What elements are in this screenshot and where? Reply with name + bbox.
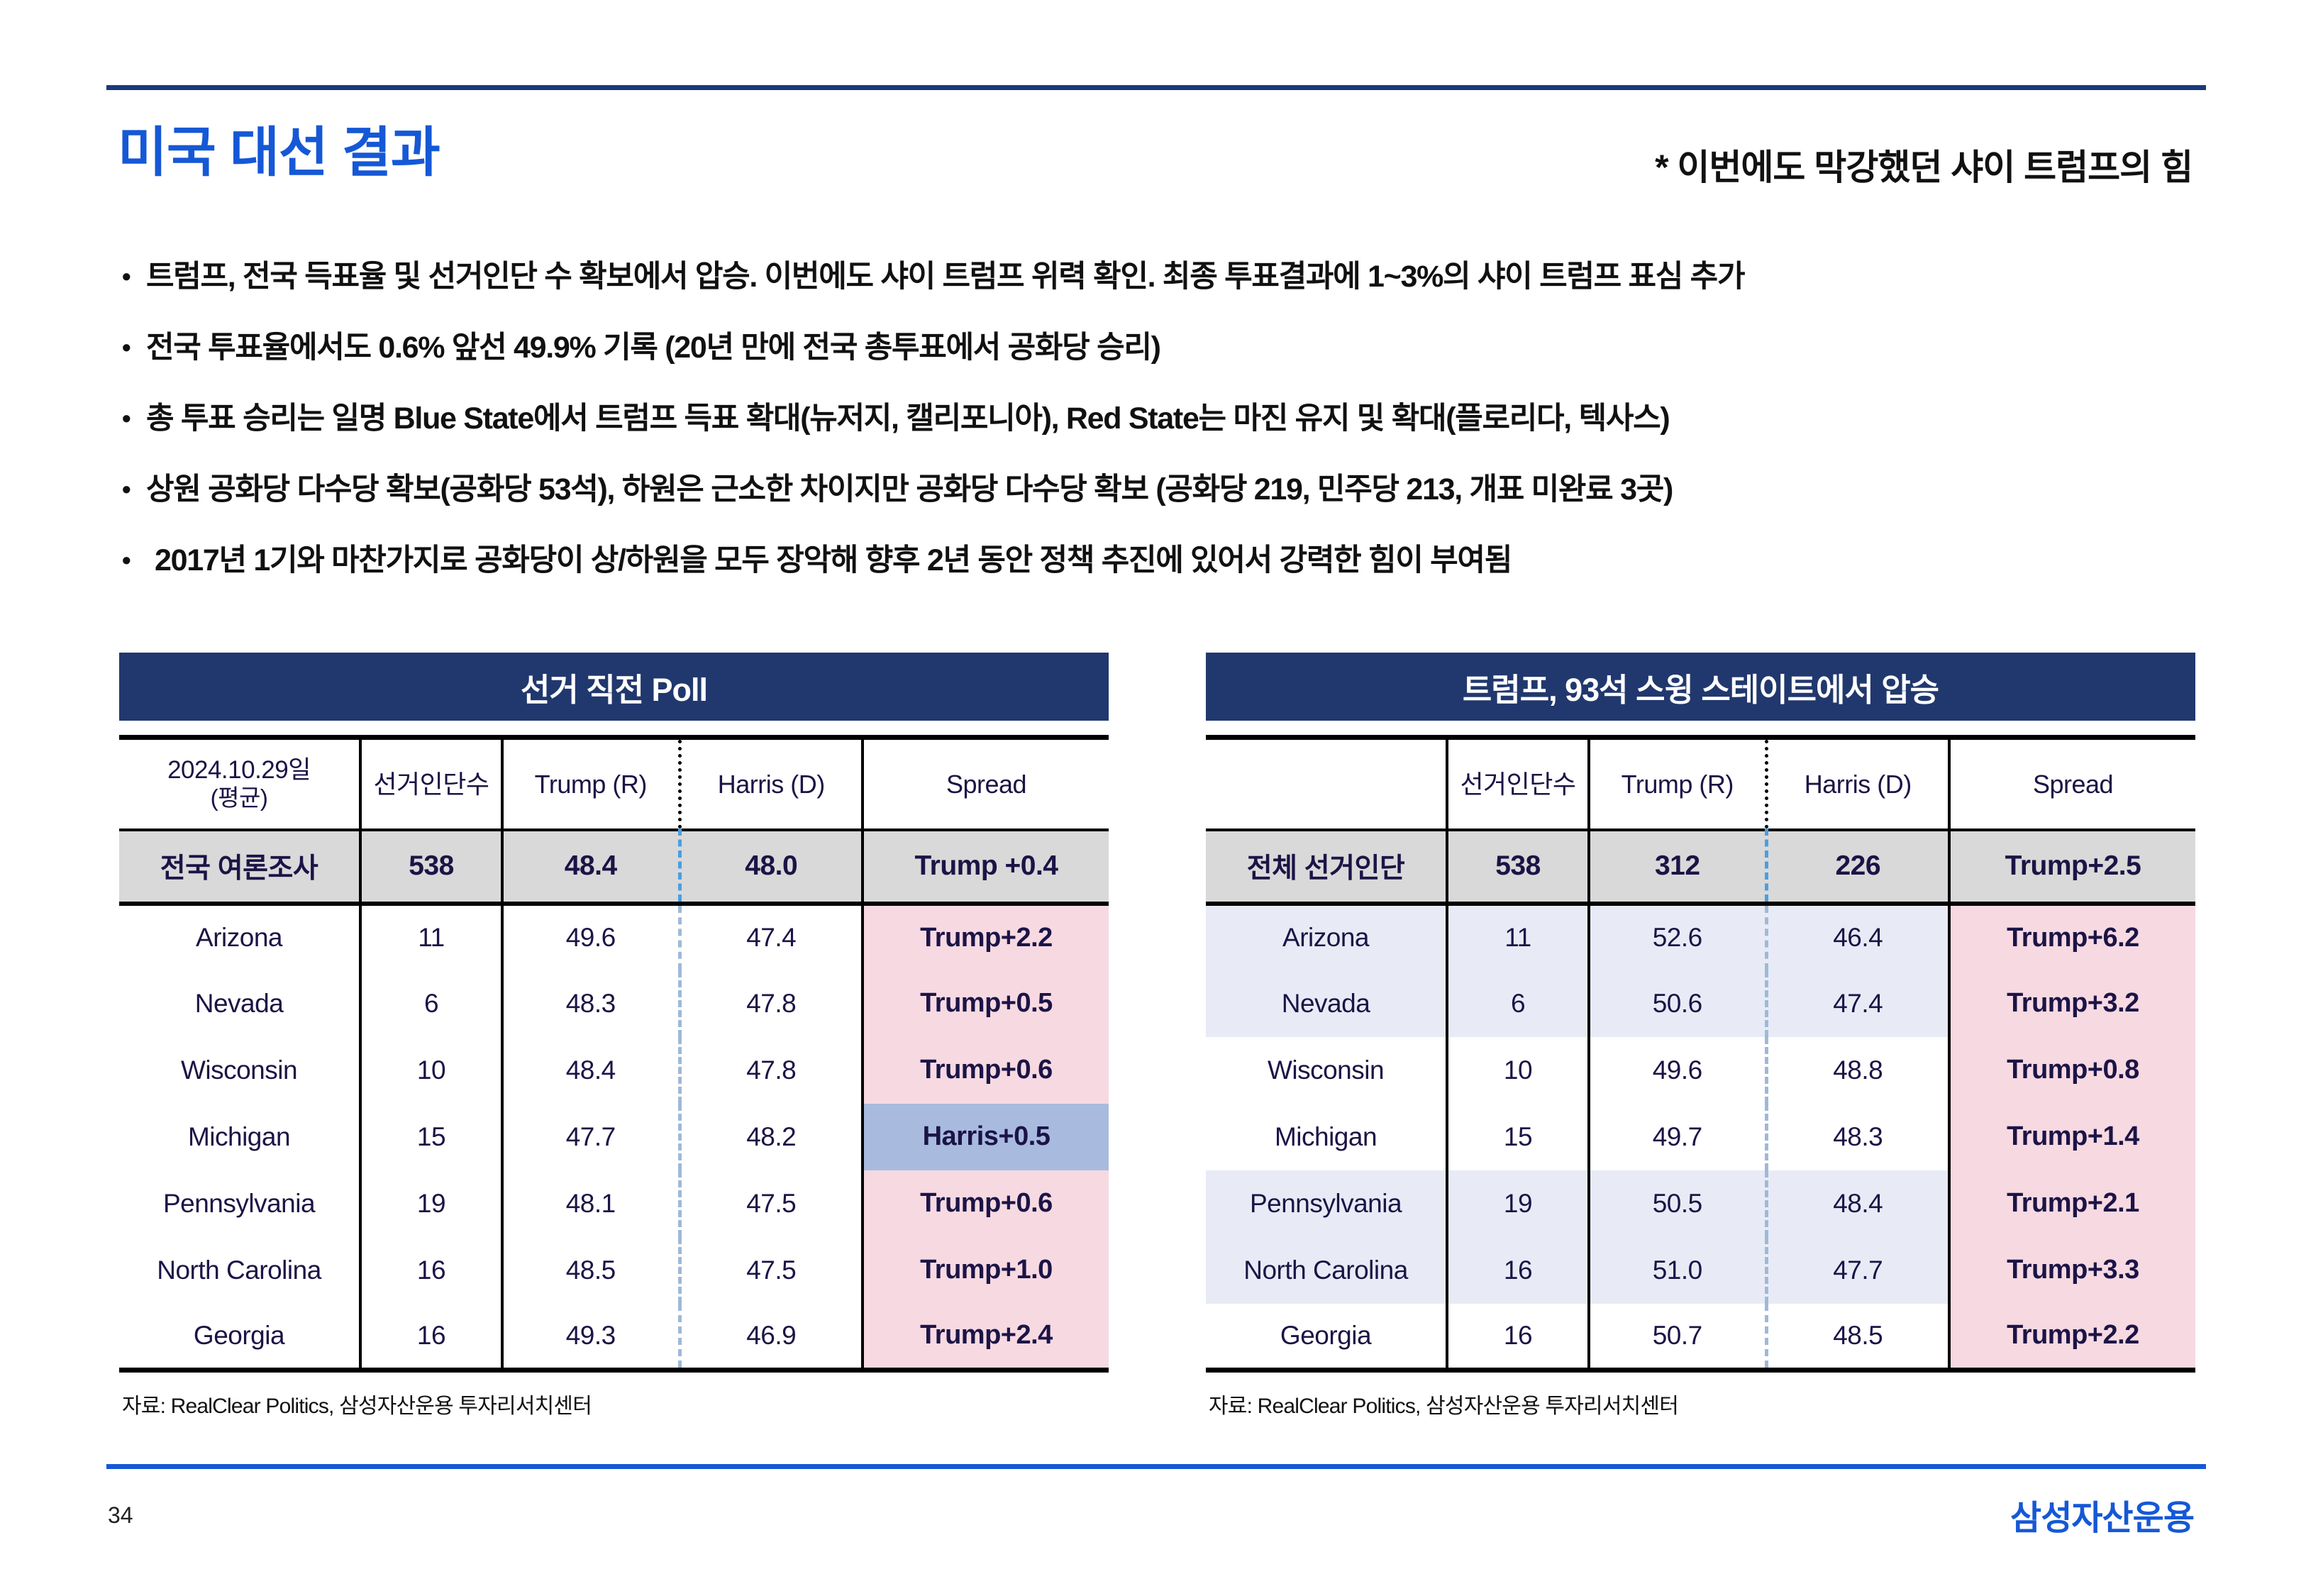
- bullet-item: • 상원 공화당 다수당 확보(공화당 53석), 하원은 근소한 차이지만 공…: [122, 454, 2214, 525]
- total-label: 전체 선거인단: [1206, 830, 1447, 904]
- bullet-item: • 2017년 1기와 마찬가지로 공화당이 상/하원을 모두 장악해 향후 2…: [122, 525, 2214, 596]
- row-electoral: 16: [360, 1304, 502, 1370]
- row-state: Arizona: [119, 904, 360, 970]
- header-cell-date: 2024.10.29일 (평균): [119, 738, 360, 830]
- row-trump: 52.6: [1589, 904, 1766, 970]
- total-label: 전국 여론조사: [119, 830, 360, 904]
- row-trump: 51.0: [1589, 1237, 1766, 1304]
- total-spread: Trump +0.4: [863, 830, 1109, 904]
- bottom-divider-rule: [106, 1464, 2206, 1469]
- row-spread: Trump+2.2: [863, 904, 1109, 970]
- row-spread: Trump+0.8: [1949, 1037, 2195, 1104]
- row-electoral: 10: [360, 1037, 502, 1104]
- bullet-item: • 총 투표 승리는 일명 Blue State에서 트럼프 득표 확대(뉴저지…: [122, 383, 2214, 454]
- header-cell-electoral: 선거인단수: [1447, 738, 1589, 830]
- row-state: Wisconsin: [119, 1037, 360, 1104]
- header-cell-spread: Spread: [863, 738, 1109, 830]
- right-table-panel: 트럼프, 93석 스윙 스테이트에서 압승 선거인단수 Trump (R) Ha…: [1206, 653, 2195, 1419]
- right-result-table: 선거인단수 Trump (R) Harris (D) Spread 전체 선거인…: [1206, 735, 2195, 1373]
- header-date-line1: 2024.10.29일: [119, 756, 359, 785]
- brand-logo: 삼성자산운용: [2010, 1490, 2194, 1539]
- bullet-item: • 트럼프, 전국 득표율 및 선거인단 수 확보에서 압승. 이번에도 샤이 …: [122, 241, 2214, 312]
- bullet-marker-icon: •: [122, 383, 146, 454]
- bullet-marker-icon: •: [122, 525, 155, 596]
- row-electoral: 6: [360, 970, 502, 1037]
- total-electoral: 538: [1447, 830, 1589, 904]
- bullet-item: • 전국 투표율에서도 0.6% 앞선 49.9% 기록 (20년 만에 전국 …: [122, 312, 2214, 383]
- row-spread: Trump+2.2: [1949, 1304, 2195, 1370]
- table-row: Pennsylvania 19 50.5 48.4 Trump+2.1: [1206, 1170, 2195, 1237]
- row-trump: 47.7: [502, 1104, 680, 1170]
- right-table-title: 트럼프, 93석 스윙 스테이트에서 압승: [1206, 653, 2195, 721]
- top-divider-rule: [106, 85, 2206, 90]
- row-spread: Trump+1.0: [863, 1237, 1109, 1304]
- row-state: Michigan: [119, 1104, 360, 1170]
- row-trump: 48.5: [502, 1237, 680, 1304]
- row-spread: Trump+1.4: [1949, 1104, 2195, 1170]
- row-spread: Trump+3.2: [1949, 970, 2195, 1037]
- slide-root: 미국 대선 결과 * 이번에도 막강했던 샤이 트럼프의 힘 • 트럼프, 전국…: [0, 0, 2306, 1596]
- row-trump: 48.3: [502, 970, 680, 1037]
- table-row: Arizona 11 49.6 47.4 Trump+2.2: [119, 904, 1109, 970]
- bullet-list: • 트럼프, 전국 득표율 및 선거인단 수 확보에서 압승. 이번에도 샤이 …: [122, 241, 2214, 596]
- header-cell-harris: Harris (D): [680, 738, 863, 830]
- table-row: Arizona 11 52.6 46.4 Trump+6.2: [1206, 904, 2195, 970]
- row-spread: Trump+2.4: [863, 1304, 1109, 1370]
- row-harris: 47.5: [680, 1237, 863, 1304]
- row-state: Nevada: [1206, 970, 1447, 1037]
- header-cell-spread: Spread: [1949, 738, 2195, 830]
- row-state: Nevada: [119, 970, 360, 1037]
- left-poll-table: 2024.10.29일 (평균) 선거인단수 Trump (R) Harris …: [119, 735, 1109, 1373]
- row-state: North Carolina: [119, 1237, 360, 1304]
- row-spread: Trump+2.1: [1949, 1170, 2195, 1237]
- table-row: North Carolina 16 48.5 47.5 Trump+1.0: [119, 1237, 1109, 1304]
- page-subtitle: * 이번에도 막강했던 샤이 트럼프의 힘: [1655, 139, 2193, 190]
- row-electoral: 15: [360, 1104, 502, 1170]
- table-row: Georgia 16 49.3 46.9 Trump+2.4: [119, 1304, 1109, 1370]
- table-row: Nevada 6 50.6 47.4 Trump+3.2: [1206, 970, 2195, 1037]
- row-spread: Trump+0.5: [863, 970, 1109, 1037]
- row-spread: Harris+0.5: [863, 1104, 1109, 1170]
- row-electoral: 10: [1447, 1037, 1589, 1104]
- row-trump: 48.4: [502, 1037, 680, 1104]
- row-harris: 48.2: [680, 1104, 863, 1170]
- row-state: North Carolina: [1206, 1237, 1447, 1304]
- row-electoral: 11: [360, 904, 502, 970]
- row-state: Pennsylvania: [1206, 1170, 1447, 1237]
- header-cell-trump: Trump (R): [1589, 738, 1766, 830]
- header-cell-harris: Harris (D): [1766, 738, 1949, 830]
- table-total-row: 전체 선거인단 538 312 226 Trump+2.5: [1206, 830, 2195, 904]
- row-trump: 50.6: [1589, 970, 1766, 1037]
- bullet-text: 총 투표 승리는 일명 Blue State에서 트럼프 득표 확대(뉴저지, …: [146, 383, 1669, 454]
- row-harris: 47.5: [680, 1170, 863, 1237]
- row-electoral: 16: [360, 1237, 502, 1304]
- header-cell-trump: Trump (R): [502, 738, 680, 830]
- bullet-text: 트럼프, 전국 득표율 및 선거인단 수 확보에서 압승. 이번에도 샤이 트럼…: [146, 241, 1744, 312]
- row-harris: 46.9: [680, 1304, 863, 1370]
- row-electoral: 19: [1447, 1170, 1589, 1237]
- table-row: Wisconsin 10 48.4 47.8 Trump+0.6: [119, 1037, 1109, 1104]
- bullet-marker-icon: •: [122, 312, 146, 383]
- row-trump: 49.6: [1589, 1037, 1766, 1104]
- row-state: Michigan: [1206, 1104, 1447, 1170]
- header-cell-blank: [1206, 738, 1447, 830]
- row-electoral: 16: [1447, 1237, 1589, 1304]
- total-spread: Trump+2.5: [1949, 830, 2195, 904]
- header-date-line2: (평균): [119, 785, 359, 811]
- bullet-text: 2017년 1기와 마찬가지로 공화당이 상/하원을 모두 장악해 향후 2년 …: [155, 525, 1512, 596]
- bullet-marker-icon: •: [122, 454, 146, 525]
- row-trump: 50.7: [1589, 1304, 1766, 1370]
- header-cell-electoral: 선거인단수: [360, 738, 502, 830]
- row-harris: 47.8: [680, 970, 863, 1037]
- bullet-text: 전국 투표율에서도 0.6% 앞선 49.9% 기록 (20년 만에 전국 총투…: [146, 312, 1160, 383]
- page-title: 미국 대선 결과: [118, 126, 440, 180]
- row-harris: 48.4: [1766, 1170, 1949, 1237]
- row-harris: 46.4: [1766, 904, 1949, 970]
- table-row: Nevada 6 48.3 47.8 Trump+0.5: [119, 970, 1109, 1037]
- table-row: Pennsylvania 19 48.1 47.5 Trump+0.6: [119, 1170, 1109, 1237]
- page-number: 34: [108, 1502, 133, 1529]
- total-harris: 226: [1766, 830, 1949, 904]
- row-state: Georgia: [119, 1304, 360, 1370]
- row-spread: Trump+6.2: [1949, 904, 2195, 970]
- total-electoral: 538: [360, 830, 502, 904]
- row-harris: 47.8: [680, 1037, 863, 1104]
- row-spread: Trump+0.6: [863, 1170, 1109, 1237]
- row-electoral: 19: [360, 1170, 502, 1237]
- table-row: Michigan 15 47.7 48.2 Harris+0.5: [119, 1104, 1109, 1170]
- row-harris: 47.4: [1766, 970, 1949, 1037]
- total-trump: 48.4: [502, 830, 680, 904]
- table-header-row: 선거인단수 Trump (R) Harris (D) Spread: [1206, 738, 2195, 830]
- left-table-title: 선거 직전 Poll: [119, 653, 1109, 721]
- row-harris: 48.5: [1766, 1304, 1949, 1370]
- left-table-panel: 선거 직전 Poll 2024.10.29일 (평균) 선거인단수 Trump …: [119, 653, 1109, 1419]
- row-trump: 48.1: [502, 1170, 680, 1237]
- table-row: Michigan 15 49.7 48.3 Trump+1.4: [1206, 1104, 2195, 1170]
- row-electoral: 15: [1447, 1104, 1589, 1170]
- table-row: Georgia 16 50.7 48.5 Trump+2.2: [1206, 1304, 2195, 1370]
- total-harris: 48.0: [680, 830, 863, 904]
- row-trump: 49.6: [502, 904, 680, 970]
- row-spread: Trump+0.6: [863, 1037, 1109, 1104]
- row-electoral: 11: [1447, 904, 1589, 970]
- right-source-note: 자료: RealClear Politics, 삼성자산운용 투자리서치센터: [1206, 1388, 2195, 1419]
- row-trump: 50.5: [1589, 1170, 1766, 1237]
- row-harris: 48.3: [1766, 1104, 1949, 1170]
- row-trump: 49.7: [1589, 1104, 1766, 1170]
- row-state: Georgia: [1206, 1304, 1447, 1370]
- row-harris: 47.7: [1766, 1237, 1949, 1304]
- row-harris: 48.8: [1766, 1037, 1949, 1104]
- table-header-row: 2024.10.29일 (평균) 선거인단수 Trump (R) Harris …: [119, 738, 1109, 830]
- table-row: Wisconsin 10 49.6 48.8 Trump+0.8: [1206, 1037, 2195, 1104]
- bullet-marker-icon: •: [122, 241, 146, 312]
- row-electoral: 6: [1447, 970, 1589, 1037]
- bullet-text: 상원 공화당 다수당 확보(공화당 53석), 하원은 근소한 차이지만 공화당…: [146, 454, 1673, 525]
- left-source-note: 자료: RealClear Politics, 삼성자산운용 투자리서치센터: [119, 1388, 1109, 1419]
- row-trump: 49.3: [502, 1304, 680, 1370]
- row-state: Wisconsin: [1206, 1037, 1447, 1104]
- table-row: North Carolina 16 51.0 47.7 Trump+3.3: [1206, 1237, 2195, 1304]
- row-state: Pennsylvania: [119, 1170, 360, 1237]
- row-harris: 47.4: [680, 904, 863, 970]
- total-trump: 312: [1589, 830, 1766, 904]
- row-electoral: 16: [1447, 1304, 1589, 1370]
- row-state: Arizona: [1206, 904, 1447, 970]
- row-spread: Trump+3.3: [1949, 1237, 2195, 1304]
- table-total-row: 전국 여론조사 538 48.4 48.0 Trump +0.4: [119, 830, 1109, 904]
